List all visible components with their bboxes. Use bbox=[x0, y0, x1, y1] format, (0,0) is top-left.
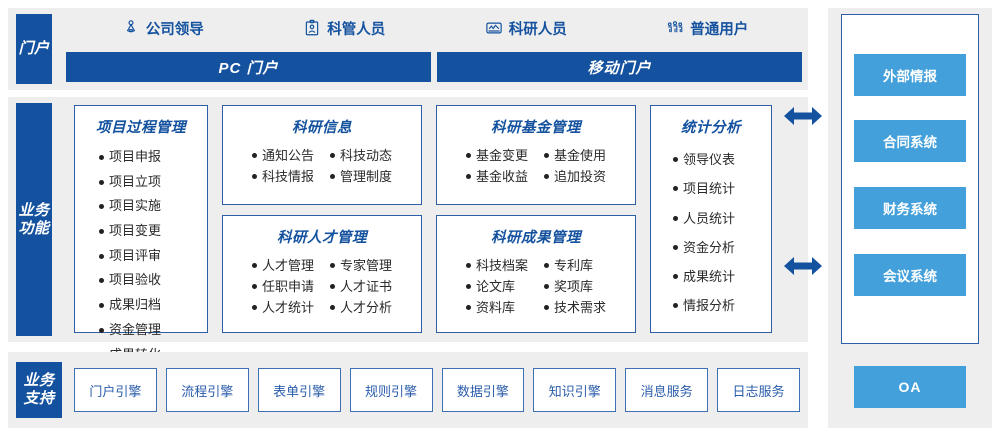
list-item-label: 人才证书 bbox=[340, 276, 392, 297]
card-title: 项目过程管理 bbox=[75, 116, 207, 137]
list-item-label: 项目申报 bbox=[109, 145, 161, 170]
list-item-label: 项目评审 bbox=[109, 244, 161, 269]
bullet-column: 科技档案 论文库 资料库 bbox=[466, 255, 528, 318]
list-item[interactable]: 项目验收 bbox=[99, 268, 161, 293]
list-item[interactable]: 项目立项 bbox=[99, 170, 161, 195]
list-item-label: 追加投资 bbox=[554, 166, 606, 187]
list-item-label: 资金管理 bbox=[109, 318, 161, 343]
list-item-label: 科技动态 bbox=[340, 145, 392, 166]
external-system-meeting[interactable]: 会议系统 bbox=[854, 254, 966, 296]
list-item-label: 人才管理 bbox=[262, 255, 314, 276]
bullet-column: 基金使用 追加投资 bbox=[544, 145, 606, 187]
list-item[interactable]: 人员统计 bbox=[673, 204, 735, 233]
role-researcher[interactable]: 科研人员 bbox=[435, 18, 617, 39]
card-title: 科研成果管理 bbox=[437, 226, 635, 247]
list-item[interactable]: 领导仪表 bbox=[673, 145, 735, 174]
role-company-leader[interactable]: 公司领导 bbox=[72, 18, 254, 39]
list-item-label: 资金分析 bbox=[683, 233, 735, 262]
list-item-label: 项目统计 bbox=[683, 174, 735, 203]
bullet-column: 科技动态 管理制度 bbox=[330, 145, 392, 187]
portal-layer-label-text: 门户 bbox=[18, 40, 49, 58]
role-general-user[interactable]: 普通用户 bbox=[617, 18, 799, 39]
bullet-column: 领导仪表 项目统计 人员统计 资金分析 成果统计 情报分析 bbox=[673, 145, 735, 321]
list-item-label: 基金变更 bbox=[476, 145, 528, 166]
list-item[interactable]: 论文库 bbox=[466, 276, 528, 297]
external-system-contract[interactable]: 合同系统 bbox=[854, 120, 966, 162]
list-item-label: 情报分析 bbox=[683, 291, 735, 320]
engine-rule[interactable]: 规则引擎 bbox=[350, 368, 433, 412]
business-function-label: 业务功能 bbox=[16, 103, 52, 336]
list-item[interactable]: 人才证书 bbox=[330, 276, 392, 297]
list-item-label: 论文库 bbox=[476, 276, 515, 297]
role-research-admin[interactable]: 科管人员 bbox=[254, 18, 436, 39]
list-item-label: 成果归档 bbox=[109, 293, 161, 318]
list-item[interactable]: 通知公告 bbox=[252, 145, 314, 166]
list-item-label: 人才统计 bbox=[262, 297, 314, 318]
list-item-label: 管理制度 bbox=[340, 166, 392, 187]
list-item[interactable]: 人才统计 bbox=[252, 297, 314, 318]
card-research-information[interactable]: 科研信息 通知公告 科技情报 科技动态 管理制度 bbox=[222, 105, 422, 205]
external-system-finance[interactable]: 财务系统 bbox=[854, 187, 966, 229]
list-item[interactable]: 资金管理 bbox=[99, 318, 161, 343]
portal-buttons-row: PC 门户 移动门户 bbox=[66, 52, 802, 82]
list-item-label: 专利库 bbox=[554, 255, 593, 276]
bullet-column: 通知公告 科技情报 bbox=[252, 145, 314, 187]
portal-roles-row: 公司领导 科管人员 科研人员 bbox=[72, 14, 798, 42]
list-item-label: 成果统计 bbox=[683, 262, 735, 291]
external-system-intelligence[interactable]: 外部情报 bbox=[854, 54, 966, 96]
list-item[interactable]: 项目评审 bbox=[99, 244, 161, 269]
company-leader-icon bbox=[122, 19, 140, 37]
role-research-admin-label: 科管人员 bbox=[327, 18, 385, 39]
bullet-column: 专家管理 人才证书 人才分析 bbox=[330, 255, 392, 318]
service-log[interactable]: 日志服务 bbox=[717, 368, 800, 412]
double-arrow-horizontal-icon bbox=[784, 253, 822, 279]
business-support-label-text: 业务支持 bbox=[16, 372, 62, 407]
list-item[interactable]: 资料库 bbox=[466, 297, 528, 318]
bullet-column: 基金变更 基金收益 bbox=[466, 145, 528, 187]
list-item-label: 项目立项 bbox=[109, 170, 161, 195]
list-item-label: 人员统计 bbox=[683, 204, 735, 233]
list-item[interactable]: 科技动态 bbox=[330, 145, 392, 166]
list-item[interactable]: 追加投资 bbox=[544, 166, 606, 187]
list-item[interactable]: 成果统计 bbox=[673, 262, 735, 291]
list-item-label: 科技档案 bbox=[476, 255, 528, 276]
list-item[interactable]: 任职申请 bbox=[252, 276, 314, 297]
bullet-column: 专利库 奖项库 技术需求 bbox=[544, 255, 606, 318]
card-research-result-management[interactable]: 科研成果管理 科技档案 论文库 资料库 专利库 奖项库 技术需求 bbox=[436, 215, 636, 333]
list-item-label: 项目验收 bbox=[109, 268, 161, 293]
list-item[interactable]: 技术需求 bbox=[544, 297, 606, 318]
card-title: 科研信息 bbox=[223, 116, 421, 137]
list-item[interactable]: 成果归档 bbox=[99, 293, 161, 318]
architecture-diagram: 门户 公司领导 科管人员 bbox=[0, 0, 1000, 436]
card-title: 科研人才管理 bbox=[223, 226, 421, 247]
list-item-label: 奖项库 bbox=[554, 276, 593, 297]
card-statistical-analysis[interactable]: 统计分析 领导仪表 项目统计 人员统计 资金分析 成果统计 情报分析 bbox=[650, 105, 772, 333]
list-item[interactable]: 情报分析 bbox=[673, 291, 735, 320]
engine-data[interactable]: 数据引擎 bbox=[442, 368, 525, 412]
business-support-label: 业务支持 bbox=[16, 362, 62, 418]
list-item[interactable]: 专利库 bbox=[544, 255, 606, 276]
list-item[interactable]: 奖项库 bbox=[544, 276, 606, 297]
role-company-leader-label: 公司领导 bbox=[146, 18, 204, 39]
list-item-label: 基金收益 bbox=[476, 166, 528, 187]
list-item[interactable]: 基金收益 bbox=[466, 166, 528, 187]
list-item-label: 资料库 bbox=[476, 297, 515, 318]
engine-process[interactable]: 流程引擎 bbox=[166, 368, 249, 412]
card-project-process-management[interactable]: 项目过程管理 项目申报 项目立项 项目实施 项目变更 项目评审 项目验收 成果归… bbox=[74, 105, 208, 333]
double-arrow-horizontal-icon bbox=[784, 103, 822, 129]
card-title: 统计分析 bbox=[651, 116, 771, 137]
list-item[interactable]: 资金分析 bbox=[673, 233, 735, 262]
list-item-label: 基金使用 bbox=[554, 145, 606, 166]
list-item-label: 技术需求 bbox=[554, 297, 606, 318]
role-researcher-label: 科研人员 bbox=[509, 18, 567, 39]
bullet-column: 项目申报 项目立项 项目实施 项目变更 项目评审 项目验收 成果归档 资金管理 … bbox=[99, 145, 161, 367]
list-item-label: 通知公告 bbox=[262, 145, 314, 166]
pc-portal-button[interactable]: PC 门户 bbox=[66, 52, 431, 82]
list-item[interactable]: 人才分析 bbox=[330, 297, 392, 318]
research-admin-icon bbox=[303, 19, 321, 37]
list-item[interactable]: 项目变更 bbox=[99, 219, 161, 244]
role-general-user-label: 普通用户 bbox=[690, 18, 748, 39]
list-item[interactable]: 科技情报 bbox=[252, 166, 314, 187]
list-item[interactable]: 项目统计 bbox=[673, 174, 735, 203]
list-item[interactable]: 科技档案 bbox=[466, 255, 528, 276]
bullet-column: 人才管理 任职申请 人才统计 bbox=[252, 255, 314, 318]
list-item-label: 科技情报 bbox=[262, 166, 314, 187]
list-item-label: 任职申请 bbox=[262, 276, 314, 297]
card-research-talent-management[interactable]: 科研人才管理 人才管理 任职申请 人才统计 专家管理 人才证书 人才分析 bbox=[222, 215, 422, 333]
list-item-label: 项目变更 bbox=[109, 219, 161, 244]
card-research-fund-management[interactable]: 科研基金管理 基金变更 基金收益 基金使用 追加投资 bbox=[436, 105, 636, 205]
list-item-label: 人才分析 bbox=[340, 297, 392, 318]
service-message[interactable]: 消息服务 bbox=[625, 368, 708, 412]
portal-layer-label: 门户 bbox=[16, 14, 52, 84]
engine-form[interactable]: 表单引擎 bbox=[258, 368, 341, 412]
engines-row: 门户引擎 流程引擎 表单引擎 规则引擎 数据引擎 知识引擎 消息服务 日志服务 bbox=[74, 368, 800, 412]
list-item[interactable]: 人才管理 bbox=[252, 255, 314, 276]
engine-portal[interactable]: 门户引擎 bbox=[74, 368, 157, 412]
list-item-label: 项目实施 bbox=[109, 194, 161, 219]
general-user-icon bbox=[666, 19, 684, 37]
mobile-portal-button[interactable]: 移动门户 bbox=[437, 52, 802, 82]
list-item[interactable]: 项目实施 bbox=[99, 194, 161, 219]
business-function-label-text: 业务功能 bbox=[16, 202, 52, 237]
list-item[interactable]: 项目申报 bbox=[99, 145, 161, 170]
engine-knowledge[interactable]: 知识引擎 bbox=[533, 368, 616, 412]
researcher-icon bbox=[485, 19, 503, 37]
external-system-oa[interactable]: OA bbox=[854, 366, 966, 408]
list-item[interactable]: 基金使用 bbox=[544, 145, 606, 166]
list-item-label: 专家管理 bbox=[340, 255, 392, 276]
list-item[interactable]: 专家管理 bbox=[330, 255, 392, 276]
list-item[interactable]: 管理制度 bbox=[330, 166, 392, 187]
list-item-label: 领导仪表 bbox=[683, 145, 735, 174]
list-item[interactable]: 基金变更 bbox=[466, 145, 528, 166]
card-title: 科研基金管理 bbox=[437, 116, 635, 137]
